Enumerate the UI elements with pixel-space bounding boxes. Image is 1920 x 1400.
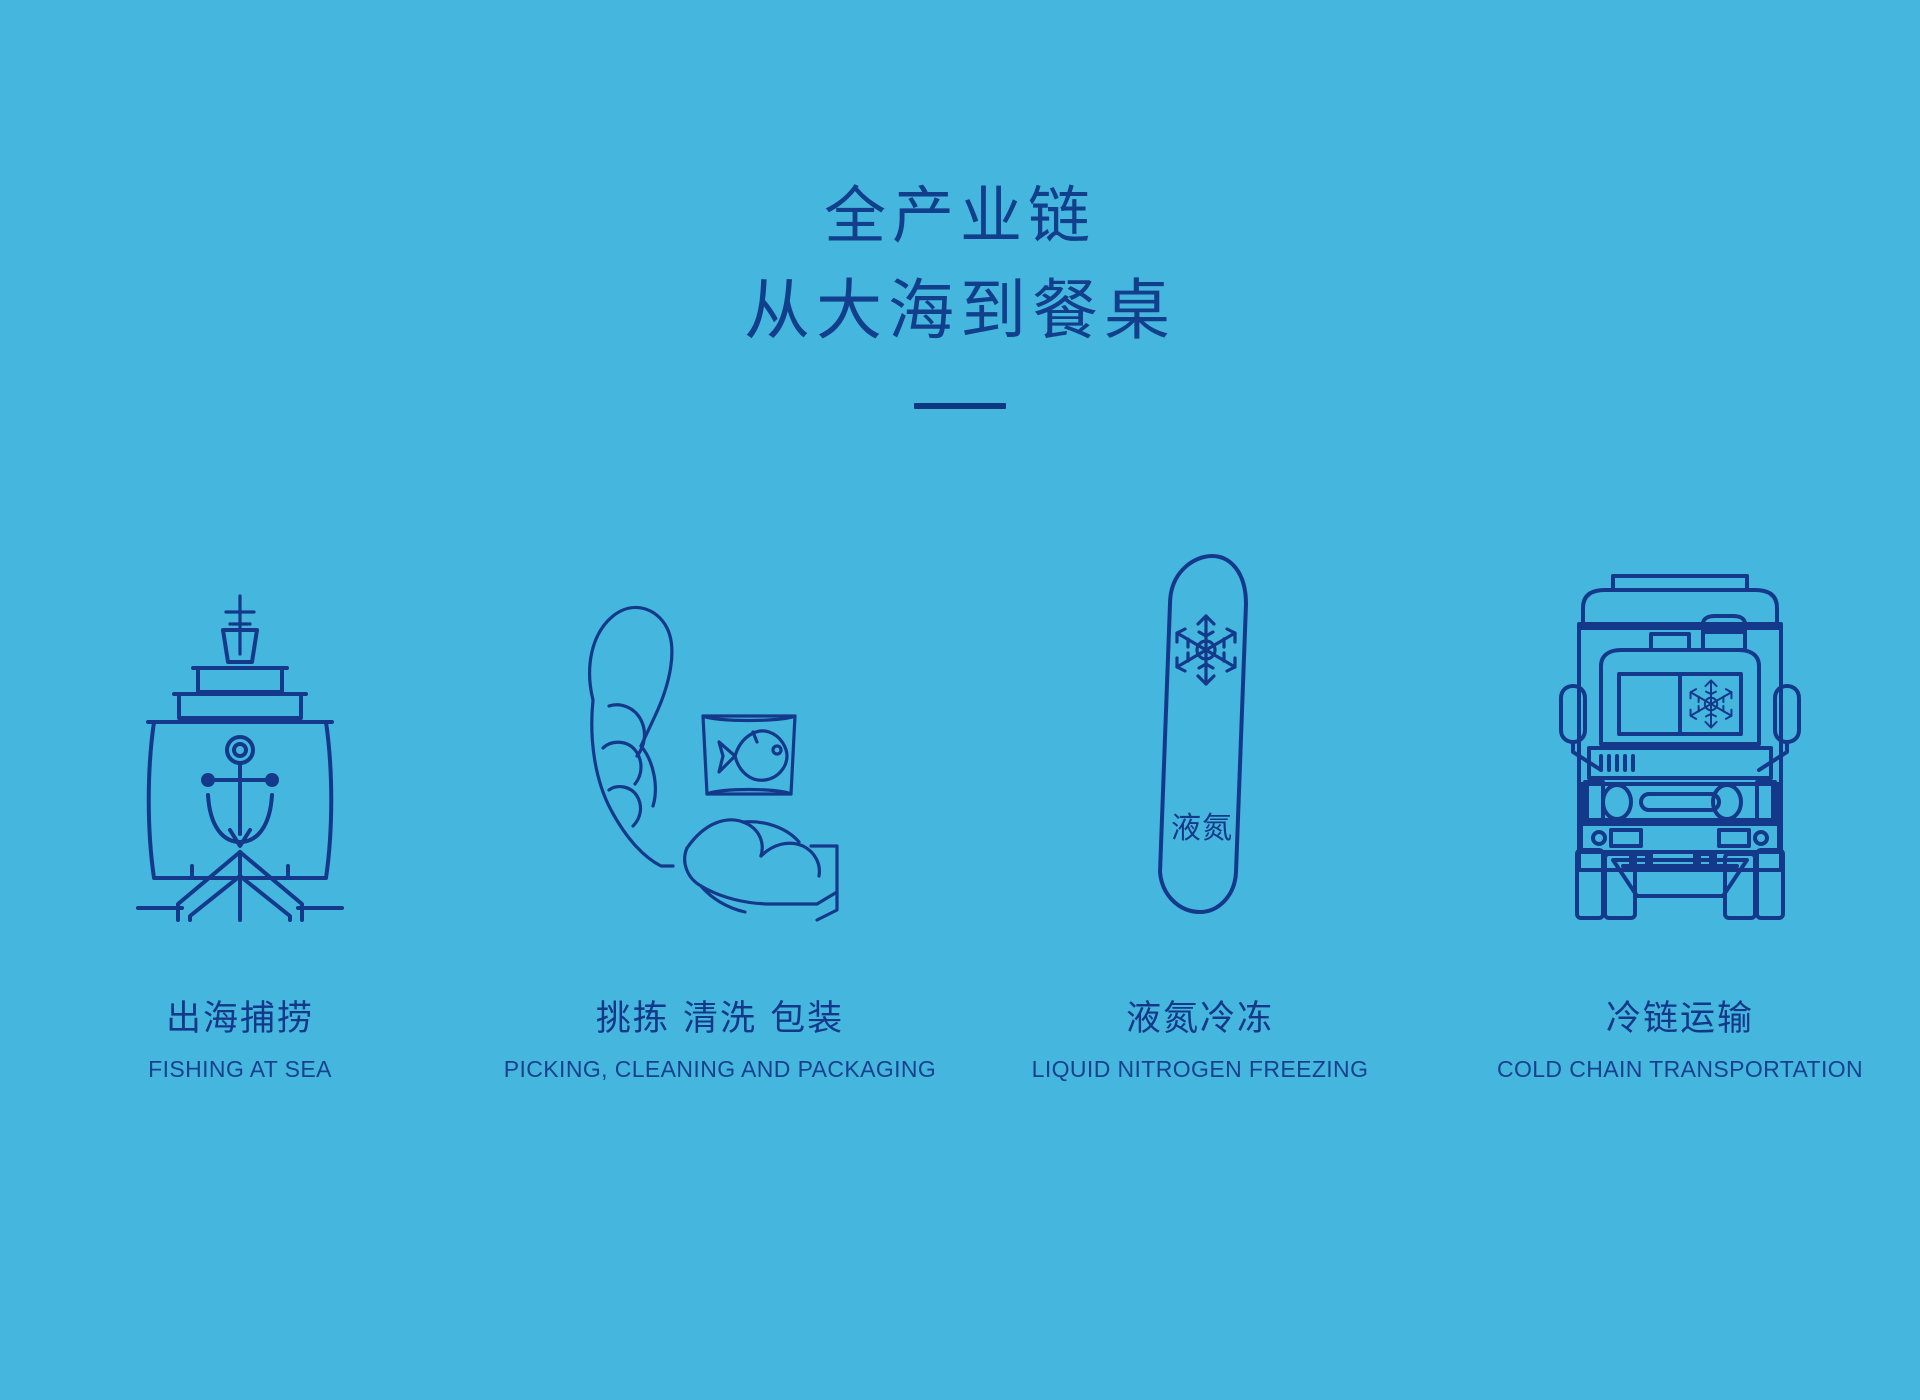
refrigerated-truck-icon: [1555, 570, 1805, 920]
step-label-en: FISHING AT SEA: [148, 1056, 332, 1083]
step-fishing-at-sea[interactable]: 出海捕捞 FISHING AT SEA: [0, 520, 480, 1083]
icon-box-3: 液氮: [1140, 520, 1260, 920]
step-liquid-nitrogen-freezing[interactable]: 液氮 液氮冷冻 LIQUID NITROGEN FREEZING: [960, 520, 1440, 1083]
step-3-labels: 液氮冷冻 LIQUID NITROGEN FREEZING: [1032, 998, 1369, 1083]
title-divider-wrap: [0, 401, 1920, 411]
step-label-en: PICKING, CLEANING AND PACKAGING: [504, 1056, 936, 1083]
step-label-cn: 液氮冷冻: [1032, 998, 1369, 1040]
icon-box-1: [130, 520, 350, 920]
step-label-cn: 冷链运输: [1497, 998, 1863, 1040]
step-picking-cleaning-packaging[interactable]: 挑拣 清洗 包装 PICKING, CLEANING AND PACKAGING: [480, 520, 960, 1083]
step-label-en: LIQUID NITROGEN FREEZING: [1032, 1056, 1369, 1083]
hands-fish-package-icon: [575, 590, 865, 920]
step-label-cn: 挑拣 清洗 包装: [504, 998, 936, 1040]
title-divider: [914, 403, 1006, 409]
liquid-nitrogen-tank-icon: 液氮: [1140, 550, 1260, 920]
page-title-line-1: 全产业链: [0, 170, 1920, 262]
icon-box-2: [575, 520, 865, 920]
step-cold-chain-transportation[interactable]: 冷链运输 COLD CHAIN TRANSPORTATION: [1440, 520, 1920, 1083]
snowflake-icon: [1691, 680, 1732, 727]
page-title-line-2: 从大海到餐桌: [0, 262, 1920, 360]
snowflake-icon: [1177, 616, 1235, 684]
step-label-en: COLD CHAIN TRANSPORTATION: [1497, 1056, 1863, 1083]
page-root: 全产业链 从大海到餐桌: [0, 0, 1920, 1400]
fishing-boat-icon: [130, 590, 350, 920]
page-header: 全产业链 从大海到餐桌: [0, 170, 1920, 411]
step-label-cn: 出海捕捞: [148, 998, 332, 1040]
step-1-labels: 出海捕捞 FISHING AT SEA: [148, 998, 332, 1083]
step-2-labels: 挑拣 清洗 包装 PICKING, CLEANING AND PACKAGING: [504, 998, 936, 1083]
process-steps: 出海捕捞 FISHING AT SEA: [0, 520, 1920, 1083]
tank-label-text: 液氮: [1171, 811, 1233, 846]
icon-box-4: [1555, 520, 1805, 920]
step-4-labels: 冷链运输 COLD CHAIN TRANSPORTATION: [1497, 998, 1863, 1083]
